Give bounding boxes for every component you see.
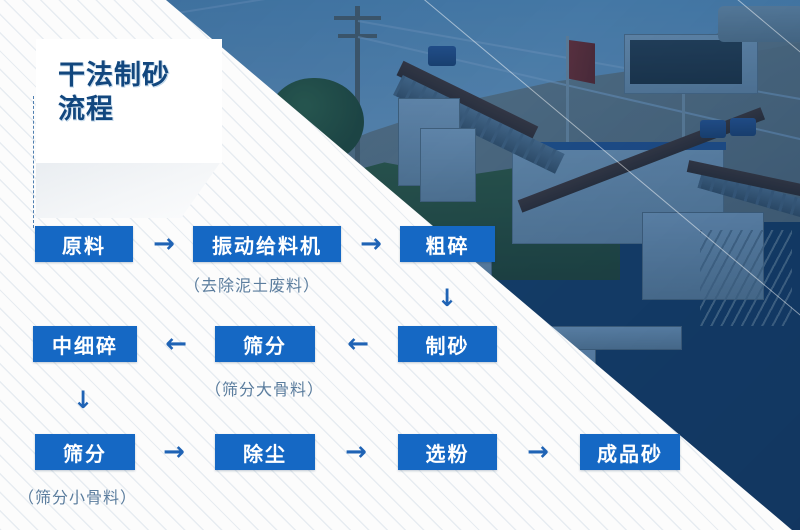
arrow-row1-1: → [145, 234, 183, 254]
node-raw-material[interactable]: 原料 [35, 226, 133, 262]
arrow-row3-2: → [332, 442, 380, 462]
process-flow-diagram: 原料 → 振动给料机 → 粗碎 （去除泥土废料） ↓ 中细碎 ← 筛分 ← 制砂… [0, 0, 800, 530]
down-arrow-left: ↓ [71, 382, 95, 418]
down-arrow-right: ↓ [435, 280, 459, 316]
note-row1: （去除泥土废料） [184, 272, 320, 296]
arrow-row2-1: ← [152, 334, 200, 354]
node-medium-fine-crushing[interactable]: 中细碎 [33, 326, 137, 362]
arrow-row2-2: ← [334, 334, 382, 354]
node-dust-removal[interactable]: 除尘 [215, 434, 315, 470]
node-sand-making[interactable]: 制砂 [398, 326, 497, 362]
node-finished-sand[interactable]: 成品砂 [580, 434, 680, 470]
infographic-canvas: 干法制砂 流程 原料 → 振动给料机 → 粗碎 （去除泥土废料） ↓ 中细碎 ←… [0, 0, 800, 530]
node-vibrating-feeder[interactable]: 振动给料机 [193, 226, 341, 262]
arrow-row3-1: → [150, 442, 198, 462]
note-row2: （筛分大骨料） [205, 376, 324, 400]
note-row3: （筛分小骨料） [18, 484, 137, 508]
arrow-row3-3: → [514, 442, 562, 462]
arrow-row1-2: → [352, 234, 390, 254]
node-powder-selection[interactable]: 选粉 [398, 434, 497, 470]
node-screening-small[interactable]: 筛分 [35, 434, 135, 470]
node-coarse-crushing[interactable]: 粗碎 [400, 226, 495, 262]
node-screening-large[interactable]: 筛分 [215, 326, 315, 362]
